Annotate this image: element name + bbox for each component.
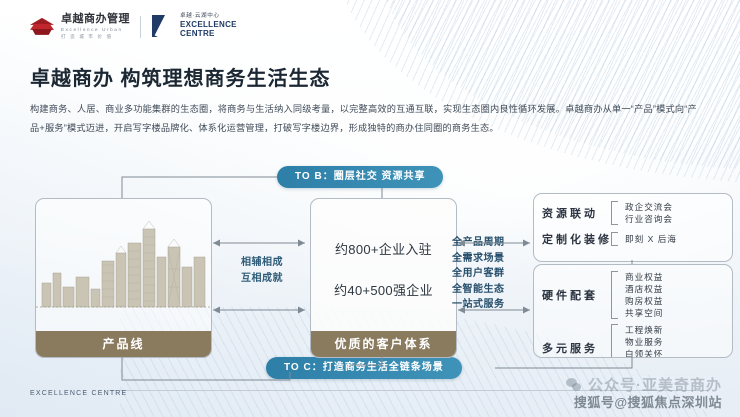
box-product-line: 产品线 xyxy=(35,198,212,358)
right-feature-list: 全产品周期全需求场景全用户客群全智能生态一站式服务 xyxy=(452,235,505,313)
box-hardware-services: 硬件配套 商业权益 酒店权益 购房权益 共享空间 多元服务 工程焕新 物业服务 … xyxy=(533,264,733,358)
logo-excellence-urban: 卓越商办管理 Excellence Urban 打造城市价值 xyxy=(30,14,130,40)
watermark-bottom: 搜狐号@搜狐焦点深圳站 xyxy=(574,392,722,411)
right-row: 多元服务 工程焕新 物业服务 白领关怀 托儿教育 xyxy=(534,324,732,358)
footer-brand: EXCELLENCE CENTRE xyxy=(30,390,127,397)
pill-to-c: TO C：打造商务生活全链条场景 xyxy=(266,357,462,379)
logo-primary-cn: 卓越商办管理 xyxy=(61,14,130,25)
right-row-items: 即刻 X 后海 xyxy=(625,233,677,245)
pill-to-b: TO B：圈层社交 资源共享 xyxy=(277,166,443,188)
logo-excellence-centre: 卓越·云湖中心 EXCELLENCE CENTRE xyxy=(152,14,237,38)
bracket-icon xyxy=(611,201,618,225)
right-row-items: 商业权益 酒店权益 购房权益 共享空间 xyxy=(625,271,663,319)
city-skyline-icon xyxy=(36,199,211,317)
logo-primary-en: Excellence Urban xyxy=(61,28,130,33)
logo-secondary-cn: 卓越·云湖中心 xyxy=(180,14,237,20)
excellence-centre-mark-icon xyxy=(152,15,174,37)
wechat-icon xyxy=(566,378,582,392)
right-row: 资源联动 政企交流会 行业咨询会 xyxy=(534,201,732,225)
mid-connector-text: 相辅相成互相成就 xyxy=(241,255,283,287)
intro-paragraph: 构建商务、人居、商业多功能集群的生态圈，将商务与生活纳入同级考量，以完整高效的互… xyxy=(30,100,702,138)
slide-canvas: 卓越商办管理 Excellence Urban 打造城市价值 卓越·云湖中心 E… xyxy=(0,0,740,417)
logo-secondary-en2: CENTRE xyxy=(180,30,237,38)
box-center-footer: 优质的客户体系 xyxy=(311,331,456,357)
right-row-label: 多元服务 xyxy=(542,340,604,356)
bracket-icon xyxy=(611,271,618,319)
logo-primary-sub: 打造城市价值 xyxy=(61,35,130,40)
box-resource-linkage: 资源联动 政企交流会 行业咨询会 定制化装修 即刻 X 后海 xyxy=(533,193,733,262)
diamond-logo-icon xyxy=(30,18,54,36)
right-row-items: 工程焕新 物业服务 白领关怀 托儿教育 xyxy=(625,324,663,358)
right-row-label: 硬件配套 xyxy=(542,287,604,303)
right-row-items: 政企交流会 行业咨询会 xyxy=(625,201,673,225)
page-title: 卓越商办 构筑理想商务生活生态 xyxy=(30,62,331,91)
right-row: 定制化装修 即刻 X 后海 xyxy=(534,231,732,247)
header-divider xyxy=(140,16,141,38)
bracket-icon xyxy=(611,232,618,246)
header: 卓越商办管理 Excellence Urban 打造城市价值 卓越·云湖中心 E… xyxy=(0,0,740,52)
right-row-label: 定制化装修 xyxy=(542,231,604,247)
right-row: 硬件配套 商业权益 酒店权益 购房权益 共享空间 xyxy=(534,271,732,319)
box-left-footer: 产品线 xyxy=(36,331,211,357)
box-customer-system: 约800+企业入驻 约40+500强企业 优质的客户体系 xyxy=(310,198,457,358)
center-stat-2: 约40+500强企业 xyxy=(311,280,456,299)
right-row-label: 资源联动 xyxy=(542,205,604,221)
bracket-icon xyxy=(611,324,618,358)
center-stat-1: 约800+企业入驻 xyxy=(311,239,456,258)
